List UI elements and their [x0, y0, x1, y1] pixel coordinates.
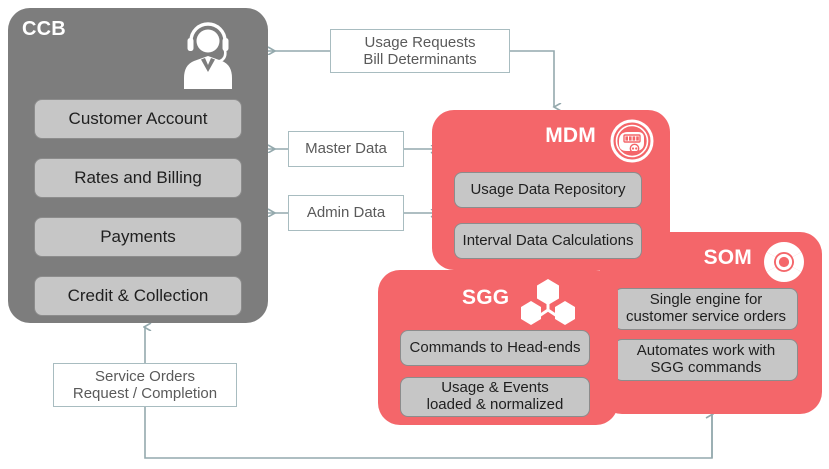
- ccb-item-rates-and-billing[interactable]: Rates and Billing: [34, 158, 242, 198]
- sgg-item-commands-to-head-ends[interactable]: Commands to Head-ends: [400, 330, 590, 366]
- ccb-item-credit-collection[interactable]: Credit & Collection: [34, 276, 242, 316]
- mdm-title: MDM: [545, 124, 596, 148]
- connector-label-service-orders[interactable]: Service Orders Request / Completion: [53, 363, 237, 407]
- sgg-item-usage-events[interactable]: Usage & Events loaded & normalized: [400, 377, 590, 417]
- panel-sgg[interactable]: SGG Commands to Head-ends Usage & Events…: [378, 270, 618, 425]
- sgg-title: SGG: [462, 286, 509, 310]
- diagram-canvas: CCB Customer Account Rates and Billing P: [0, 0, 829, 469]
- connector-label-usage-requests[interactable]: Usage Requests Bill Determinants: [330, 29, 510, 73]
- lifebuoy-icon: [762, 240, 806, 284]
- headset-agent-icon: [178, 16, 238, 92]
- mdm-item-usage-data-repository[interactable]: Usage Data Repository: [454, 172, 642, 208]
- ccb-item-payments[interactable]: Payments: [34, 217, 242, 257]
- som-title: SOM: [704, 246, 752, 270]
- panel-ccb[interactable]: CCB Customer Account Rates and Billing P: [8, 8, 268, 323]
- meter-icon: [610, 119, 654, 163]
- som-item-single-engine[interactable]: Single engine for customer service order…: [614, 288, 798, 330]
- ccb-item-customer-account[interactable]: Customer Account: [34, 99, 242, 139]
- ccb-title: CCB: [22, 18, 66, 41]
- connector-label-master-data[interactable]: Master Data: [288, 131, 404, 167]
- panel-mdm[interactable]: MDM Usage Data Repository Interval Data …: [432, 110, 670, 270]
- hexagon-network-icon: [518, 277, 578, 329]
- som-item-automates-work[interactable]: Automates work with SGG commands: [614, 339, 798, 381]
- connector-label-admin-data[interactable]: Admin Data: [288, 195, 404, 231]
- mdm-item-interval-data-calculations[interactable]: Interval Data Calculations: [454, 223, 642, 259]
